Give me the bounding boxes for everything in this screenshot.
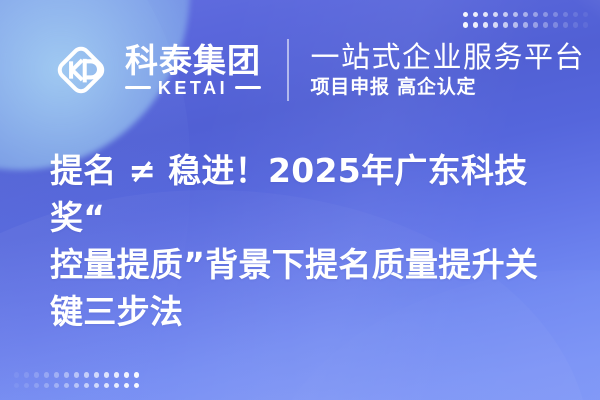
logo-name-cn: 科泰集团 (125, 44, 261, 77)
dot-grid-dot (14, 372, 19, 377)
dot-grid-dot (94, 372, 99, 377)
dot-grid-dot (24, 383, 29, 388)
dot-grid-dot (104, 372, 109, 377)
dot-grid-dot (114, 383, 119, 388)
dot-grid-icon-bottom-left (14, 372, 139, 388)
dot-grid-dot (64, 372, 69, 377)
banner-header: 科泰集团 KETAI 一站式企业服务平台 项目申报 高企认定 (0, 0, 600, 140)
dot-grid-dot (124, 383, 129, 388)
dot-grid-dot (44, 372, 49, 377)
dot-grid-dot (104, 383, 109, 388)
dot-grid-dot (84, 383, 89, 388)
dot-grid-dot (134, 372, 139, 377)
dot-grid-dot (54, 383, 59, 388)
dot-grid-dot (34, 383, 39, 388)
page-title-line: 键三步法 (50, 289, 560, 336)
dot-grid-row (14, 372, 139, 377)
promo-banner: 科泰集团 KETAI 一站式企业服务平台 项目申报 高企认定 提名 ≠ 稳进！2… (0, 0, 600, 400)
dot-grid-dot (74, 383, 79, 388)
dot-grid-dot (14, 383, 19, 388)
dot-grid-dot (54, 372, 59, 377)
logo-rule-left (125, 86, 151, 89)
dot-grid-dot (74, 372, 79, 377)
dot-grid-dot (94, 383, 99, 388)
dot-grid-dot (44, 383, 49, 388)
logo-wordmark: 科泰集团 KETAI (125, 44, 261, 97)
page-title: 提名 ≠ 稳进！2025年广东科技奖“控量提质”背景下提名质量提升关键三步法 (50, 148, 560, 335)
title-block: 提名 ≠ 稳进！2025年广东科技奖“控量提质”背景下提名质量提升关键三步法 (50, 148, 560, 335)
tagline-sub-text: 项目申报 高企认定 (311, 78, 586, 98)
ketai-diamond-kp-logo-icon (50, 39, 112, 101)
page-title-line: 控量提质”背景下提名质量提升关 (50, 242, 560, 289)
logo-name-en: KETAI (158, 79, 228, 97)
brand-logo[interactable]: 科泰集团 KETAI (50, 39, 261, 101)
dot-grid-dot (134, 383, 139, 388)
dot-grid-dot (114, 372, 119, 377)
header-tagline: 一站式企业服务平台 项目申报 高企认定 (311, 42, 586, 97)
dot-grid-dot (124, 372, 129, 377)
dot-grid-row (14, 383, 139, 388)
dot-grid-dot (84, 372, 89, 377)
logo-rule-right (235, 86, 261, 89)
dot-grid-dot (34, 372, 39, 377)
tagline-main-text: 一站式企业服务平台 (311, 42, 586, 72)
header-divider (287, 39, 289, 101)
logo-name-en-row: KETAI (125, 79, 261, 97)
page-title-line: 提名 ≠ 稳进！2025年广东科技奖“ (50, 148, 560, 242)
dot-grid-dot (64, 383, 69, 388)
dot-grid-dot (24, 372, 29, 377)
